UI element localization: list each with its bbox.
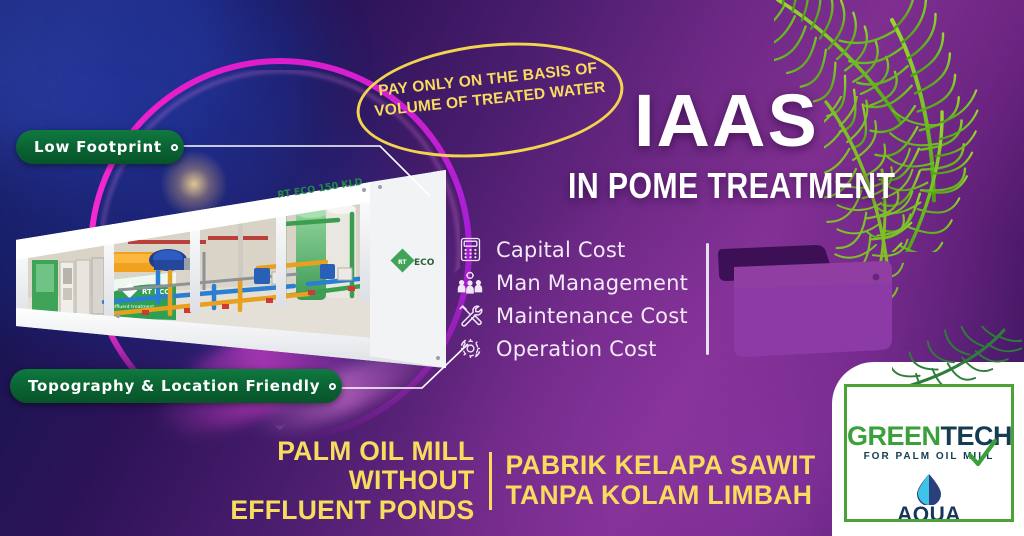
callout-label: Topography & Location Friendly [28,377,320,395]
feature-label: Maintenance Cost [496,304,688,328]
effluent-pond-silhouette [716,243,894,361]
list-item: Maintenance Cost [455,300,705,331]
callout-topography-location-friendly[interactable]: Topography & Location Friendly [10,369,342,403]
logo-inner-frame: GREENTECH FOR PALM OIL MILL AQUA Jaya [844,384,1014,522]
callout-endpoint-dot [171,144,178,151]
feature-label: Capital Cost [496,238,625,262]
jaya-wordmark: Jaya [847,521,1011,522]
list-item: Operation Cost [455,333,705,364]
feature-list: Capital Cost Man Management [455,234,705,366]
callout-low-footprint[interactable]: Low Footprint [16,130,184,164]
brand-logo-card[interactable]: GREENTECH FOR PALM OIL MILL AQUA Jaya [832,362,1024,536]
svg-text:RT: RT [398,259,407,266]
calculator-icon [455,237,485,263]
callout-label: Low Footprint [34,138,162,156]
people-management-icon [455,270,485,296]
svg-text:ECO: ECO [414,258,435,268]
feature-label: Operation Cost [496,337,657,361]
tools-icon [455,303,485,329]
page-title: IAAS [634,84,819,158]
tagline-english-line-1: PALM OIL MILL WITHOUT [150,437,475,496]
list-item: Capital Cost [455,234,705,265]
water-drop-icon [916,473,942,505]
logo-green-word: GREEN [847,421,941,451]
feature-label: Man Management [496,271,688,295]
tagline-indonesian-line-2: TANPA KOLAM LIMBAH [506,481,831,511]
aqua-wordmark: AQUA [847,503,1011,522]
gear-refresh-icon [455,336,485,362]
vertical-divider [706,243,709,355]
callout-endpoint-dot [329,383,336,390]
list-item: Man Management [455,267,705,298]
bottom-tagline: PALM OIL MILL WITHOUT EFFLUENT PONDS PAB… [150,446,830,516]
tagline-indonesian: PABRIK KELAPA SAWIT TANPA KOLAM LIMBAH [492,451,831,510]
checkmark-icon [967,439,997,469]
pay-on-volume-badge[interactable]: PAY ONLY ON THE BASIS OF VOLUME OF TREAT… [351,30,629,169]
tagline-english: PALM OIL MILL WITHOUT EFFLUENT PONDS [150,437,489,526]
containerized-treatment-plant-image: RT ECO effluent treatment system [8,168,456,400]
page-subtitle: IN POME TREATMENT [568,168,895,204]
banner-canvas: RT ECO effluent treatment system [0,0,1024,536]
tagline-indonesian-line-1: PABRIK KELAPA SAWIT [506,451,831,481]
tagline-english-line-2: EFFLUENT PONDS [150,496,475,526]
